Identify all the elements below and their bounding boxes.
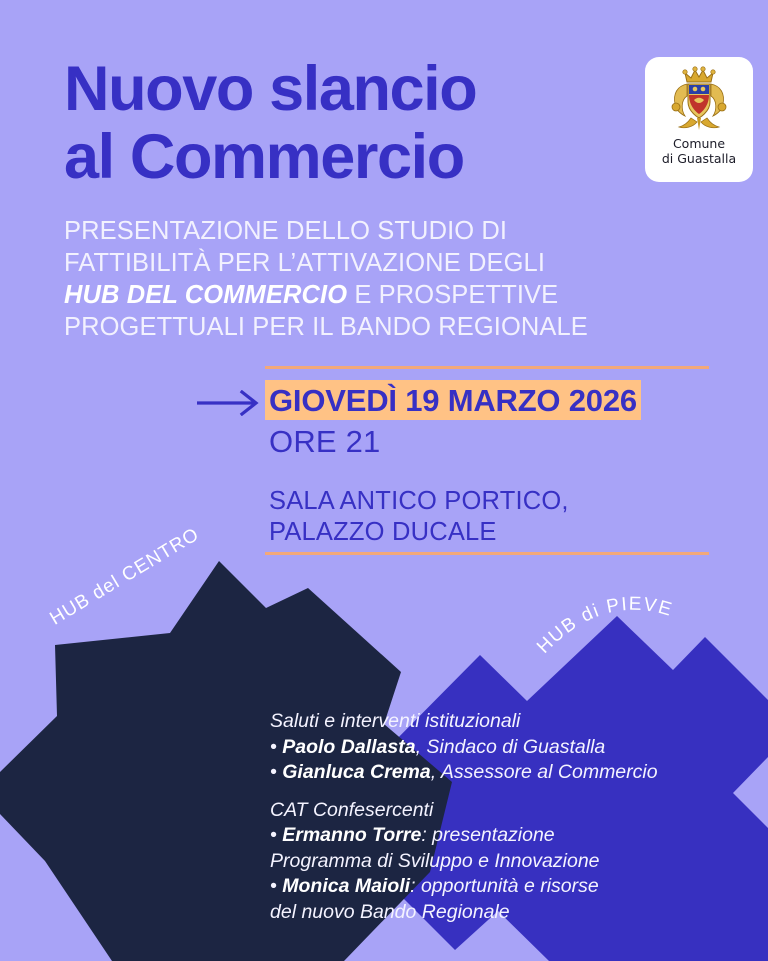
program-item-3: • Ermanno Torre: presentazione xyxy=(270,823,700,849)
program-item-1: • Paolo Dallasta, Sindaco di Guastalla xyxy=(270,735,700,761)
poster-title-line-2: al Commercio xyxy=(64,123,644,191)
program-spacer xyxy=(270,786,700,798)
subtitle-line-4: PROGETTUALI PER IL BANDO REGIONALE xyxy=(64,313,588,341)
divider-rule-top xyxy=(265,366,709,369)
subtitle-line-2: FATTIBILITÀ PER L’ATTIVAZIONE DEGLI xyxy=(64,249,545,277)
bullet-3: • xyxy=(270,824,282,846)
divider-rule-bottom xyxy=(265,552,709,555)
coat-of-arms-icon xyxy=(669,66,729,134)
arrow-right-icon xyxy=(197,390,261,416)
speaker-role-1: , Sindaco di Guastalla xyxy=(416,736,606,758)
event-venue: SALA ANTICO PORTICO, PALAZZO DUCALE xyxy=(269,486,569,548)
program-item-3-continued: Programma di Sviluppo e Innovazione xyxy=(270,849,700,875)
speaker-role-3: : presentazione xyxy=(421,824,554,846)
poster-title: Nuovo slancio al Commercio xyxy=(64,55,644,191)
poster-subtitle: PRESENTAZIONE DELLO STUDIO DI FATTIBILIT… xyxy=(64,215,684,343)
speaker-name-1: Paolo Dallasta xyxy=(282,736,415,758)
subtitle-emphasis: HUB DEL COMMERCIO xyxy=(64,281,347,309)
program-item-2: • Gianluca Crema, Assessore al Commercio xyxy=(270,760,700,786)
speaker-role-2: , Assessore al Commercio xyxy=(431,761,658,783)
event-date-block: GIOVEDÌ 19 MARZO 2026 ORE 21 xyxy=(265,380,641,460)
speaker-name-4: Monica Maioli xyxy=(282,875,410,897)
speaker-name-2: Gianluca Crema xyxy=(282,761,430,783)
comune-logo-label: Comune di Guastalla xyxy=(662,136,736,166)
poster-title-line-1: Nuovo slancio xyxy=(64,54,476,124)
subtitle-line-3-rest: E PROSPETTIVE xyxy=(347,281,558,309)
event-time: ORE 21 xyxy=(265,424,641,460)
comune-logo-badge: Comune di Guastalla xyxy=(645,57,753,182)
event-date: GIOVEDÌ 19 MARZO 2026 xyxy=(265,380,641,420)
program-list: Saluti e interventi istituzionali • Paol… xyxy=(270,709,700,925)
subtitle-line-1: PRESENTAZIONE DELLO STUDIO DI xyxy=(64,217,507,245)
bullet-2: • xyxy=(270,761,282,783)
speaker-role-4: : opportunità e risorse xyxy=(410,875,599,897)
program-heading-1: Saluti e interventi istituzionali xyxy=(270,709,700,735)
bullet-4: • xyxy=(270,875,282,897)
program-item-4-continued: del nuovo Bando Regionale xyxy=(270,900,700,926)
program-item-4: • Monica Maioli: opportunità e risorse xyxy=(270,874,700,900)
speaker-name-3: Ermanno Torre xyxy=(282,824,421,846)
bullet-1: • xyxy=(270,736,282,758)
program-heading-2: CAT Confesercenti xyxy=(270,798,700,824)
poster-canvas: HUB di PIEVE HUB del CENTRO xyxy=(0,0,768,961)
